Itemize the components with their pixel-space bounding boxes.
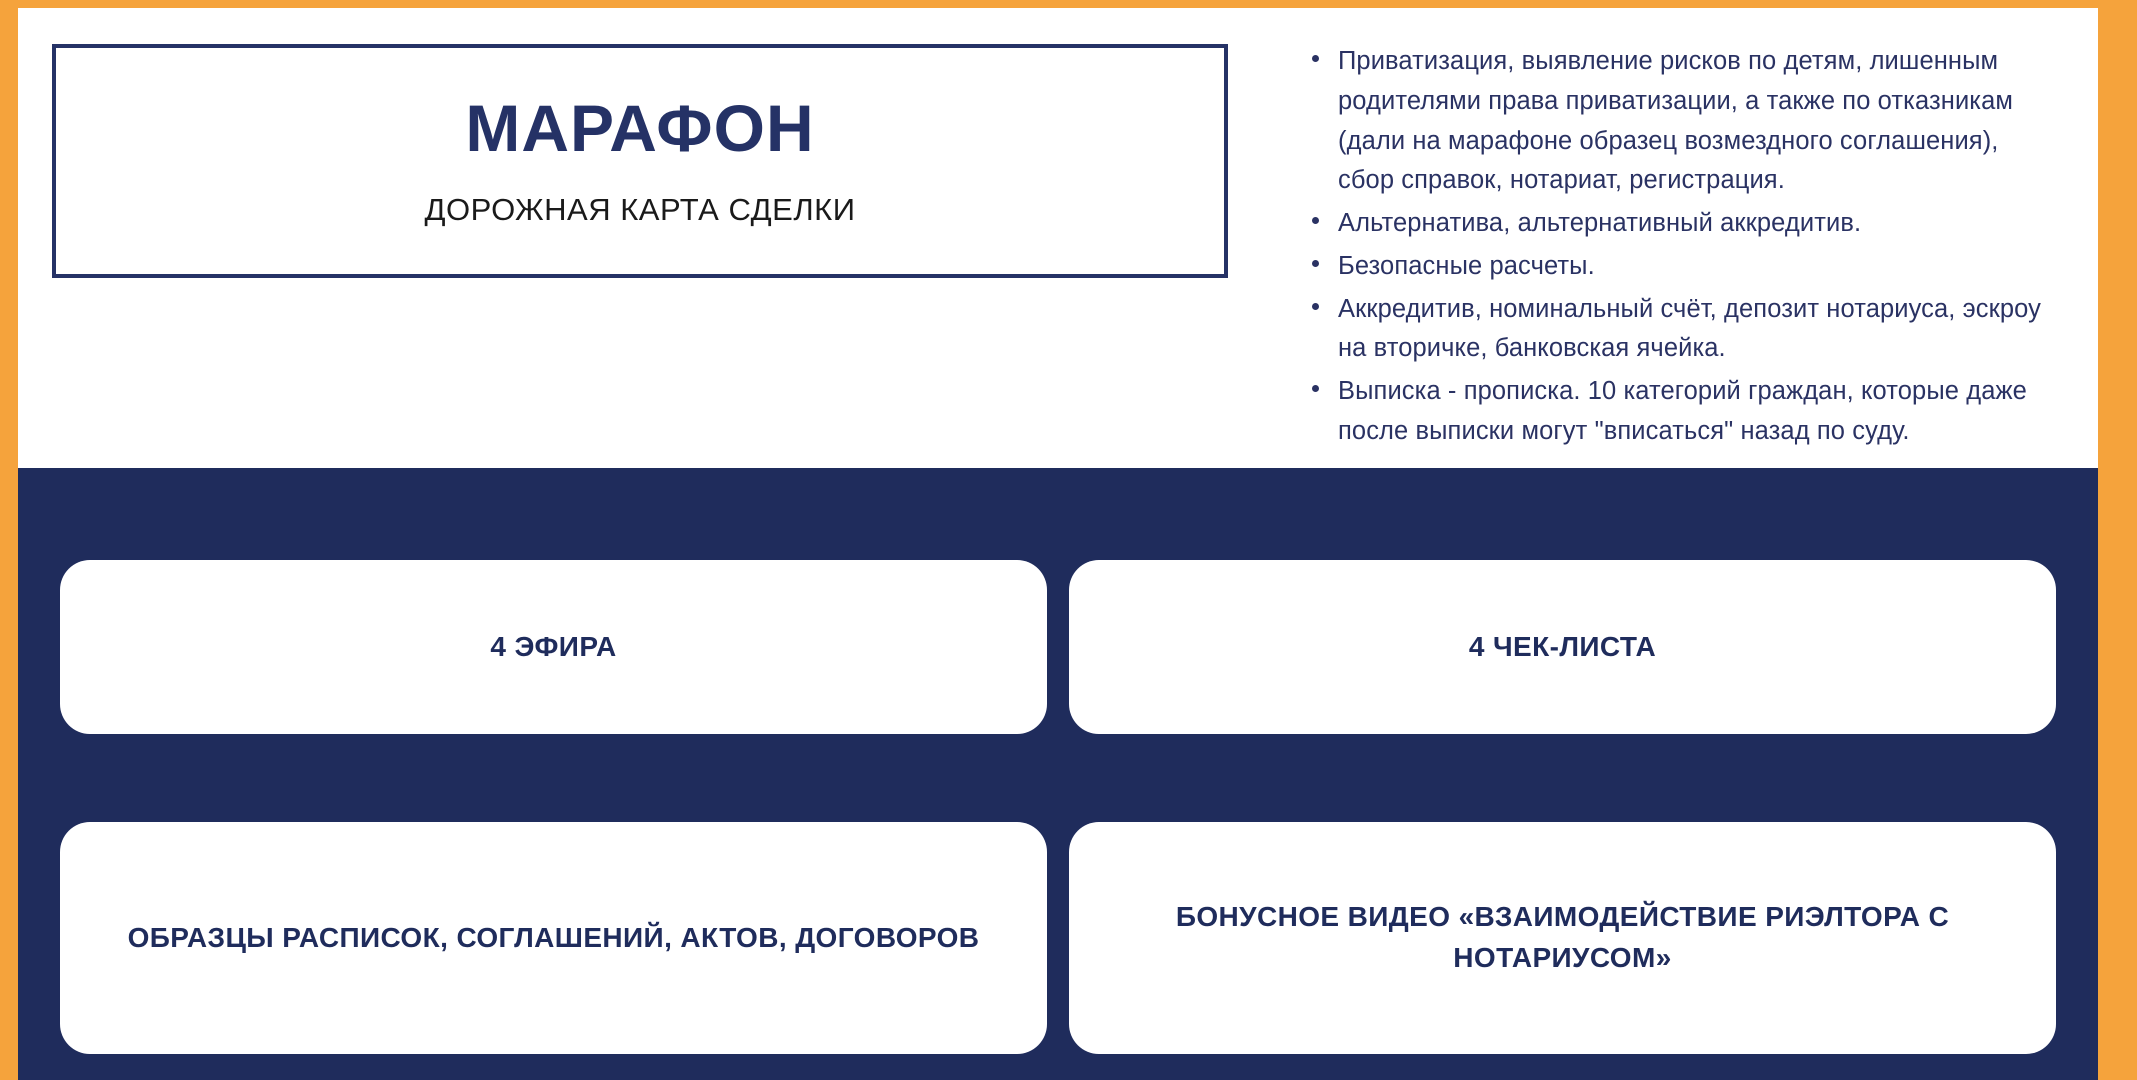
list-item-text: Альтернатива, альтернативный аккредитив. (1338, 209, 1861, 237)
list-item-text: Выписка - прописка. 10 категорий граждан… (1338, 377, 2027, 445)
slide-canvas: МАРАФОН ДОРОЖНАЯ КАРТА СДЕЛКИ Приватизац… (18, 8, 2098, 1080)
card-label: 4 ЧЕК-ЛИСТА (1469, 627, 1656, 668)
page-subtitle: ДОРОЖНАЯ КАРТА СДЕЛКИ (425, 192, 856, 228)
list-item-text: Приватизация, выявление рисков по детям,… (1338, 47, 2013, 194)
list-item-text: Аккредитив, номинальный счёт, депозит но… (1338, 295, 2041, 363)
topic-bullet-list: Приватизация, выявление рисков по детям,… (1298, 42, 2058, 452)
deliverable-card-checklists[interactable]: 4 ЧЕК-ЛИСТА (1069, 560, 2056, 734)
deliverables-row-top: 4 ЭФИРА 4 ЧЕК-ЛИСТА (60, 560, 2056, 734)
card-label: ОБРАЗЦЫ РАСПИСОК, СОГЛАШЕНИЙ, АКТОВ, ДОГ… (128, 918, 980, 959)
navy-section: 4 ЭФИРА 4 ЧЕК-ЛИСТА ОБРАЗЦЫ РАСПИСОК, СО… (18, 468, 2098, 1080)
deliverable-card-efira[interactable]: 4 ЭФИРА (60, 560, 1047, 734)
bullet-dot-icon (1312, 217, 1319, 224)
bullet-dot-icon (1312, 303, 1319, 310)
bullet-dot-icon (1312, 55, 1319, 62)
card-label: БОНУСНОЕ ВИДЕО «ВЗАИМОДЕЙСТВИЕ РИЭЛТОРА … (1113, 897, 2012, 978)
bullet-dot-icon (1312, 260, 1319, 267)
deliverables-grid: 4 ЭФИРА 4 ЧЕК-ЛИСТА ОБРАЗЦЫ РАСПИСОК, СО… (60, 560, 2056, 1054)
bullet-column: Приватизация, выявление рисков по детям,… (1298, 42, 2058, 455)
card-label: 4 ЭФИРА (490, 627, 616, 668)
top-white-section: МАРАФОН ДОРОЖНАЯ КАРТА СДЕЛКИ Приватизац… (18, 8, 2098, 468)
deliverable-card-templates[interactable]: ОБРАЗЦЫ РАСПИСОК, СОГЛАШЕНИЙ, АКТОВ, ДОГ… (60, 822, 1047, 1054)
list-item: Аккредитив, номинальный счёт, депозит но… (1298, 290, 2058, 370)
page-title: МАРАФОН (465, 94, 814, 163)
list-item: Альтернатива, альтернативный аккредитив. (1298, 204, 2058, 244)
list-item: Безопасные расчеты. (1298, 247, 2058, 287)
deliverable-card-bonus-video[interactable]: БОНУСНОЕ ВИДЕО «ВЗАИМОДЕЙСТВИЕ РИЭЛТОРА … (1069, 822, 2056, 1054)
slide-orange-frame: МАРАФОН ДОРОЖНАЯ КАРТА СДЕЛКИ Приватизац… (0, 0, 2137, 1080)
bullet-dot-icon (1312, 385, 1319, 392)
title-box: МАРАФОН ДОРОЖНАЯ КАРТА СДЕЛКИ (52, 44, 1228, 278)
deliverables-row-bottom: ОБРАЗЦЫ РАСПИСОК, СОГЛАШЕНИЙ, АКТОВ, ДОГ… (60, 822, 2056, 1054)
list-item-text: Безопасные расчеты. (1338, 252, 1595, 280)
list-item: Выписка - прописка. 10 категорий граждан… (1298, 372, 2058, 452)
list-item: Приватизация, выявление рисков по детям,… (1298, 42, 2058, 201)
